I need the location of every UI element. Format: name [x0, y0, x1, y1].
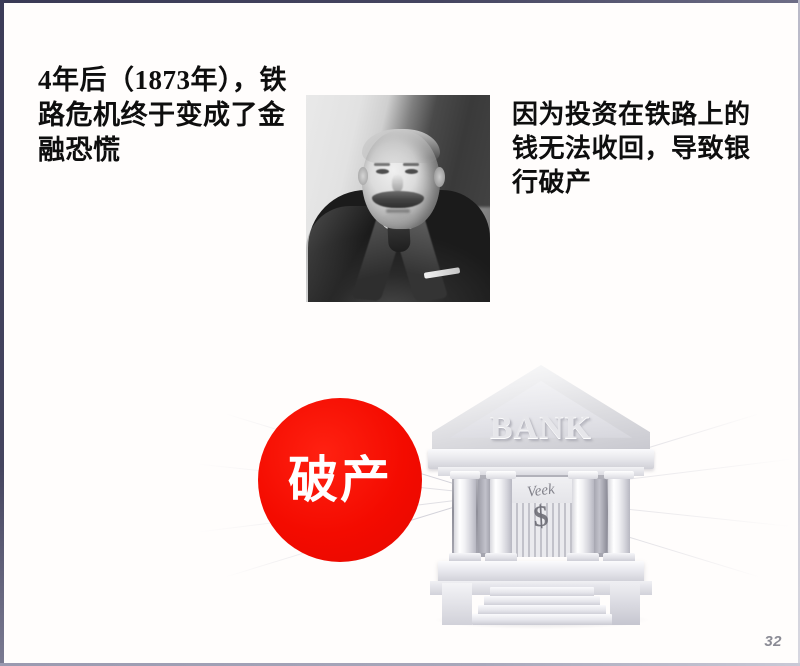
- bankruptcy-badge: 破产: [258, 398, 422, 562]
- bank-column: [572, 477, 594, 555]
- portrait-ear-right: [434, 167, 445, 187]
- portrait-chin: [378, 213, 422, 231]
- portrait-hair: [362, 129, 440, 163]
- bank-building-icon: BANK Veek $: [428, 365, 654, 625]
- portrait-eyebrow-right: [403, 163, 419, 166]
- portrait-eyebrow-left: [374, 163, 390, 166]
- bank-column: [490, 477, 512, 555]
- dollar-sign-icon: $: [505, 475, 576, 559]
- bankruptcy-graphic-group: 破产 BANK Veek $: [150, 350, 790, 640]
- bank-step-block-right: [610, 583, 640, 625]
- portrait-ear-left: [358, 167, 368, 185]
- caption-text-left: 4年后（1873年），铁路危机终于变成了金融恐慌: [38, 63, 303, 168]
- slide-border-left: [0, 0, 4, 666]
- caption-text-right: 因为投资在铁路上的钱无法收回，导致银行破产: [512, 98, 772, 199]
- bank-step-block-left: [442, 583, 472, 625]
- portrait-eye-left: [376, 169, 389, 174]
- portrait-eye-right: [405, 169, 418, 174]
- bank-column: [608, 477, 630, 555]
- presentation-slide: 4年后（1873年），铁路危机终于变成了金融恐慌 因为投资在铁路上的钱无法收回，…: [0, 0, 800, 666]
- bank-column: [454, 477, 476, 555]
- portrait-photo-frame: [306, 95, 490, 302]
- bankruptcy-badge-label: 破产: [288, 455, 392, 505]
- bank-rear-column: [592, 479, 607, 553]
- bank-platform: [438, 561, 644, 583]
- slide-border-top: [0, 0, 800, 3]
- portrait-photo: [306, 95, 490, 302]
- page-number: 32: [764, 633, 782, 650]
- bank-step: [472, 614, 612, 625]
- bank-sign-text: BANK: [428, 409, 654, 447]
- bank-entablature: [428, 449, 654, 469]
